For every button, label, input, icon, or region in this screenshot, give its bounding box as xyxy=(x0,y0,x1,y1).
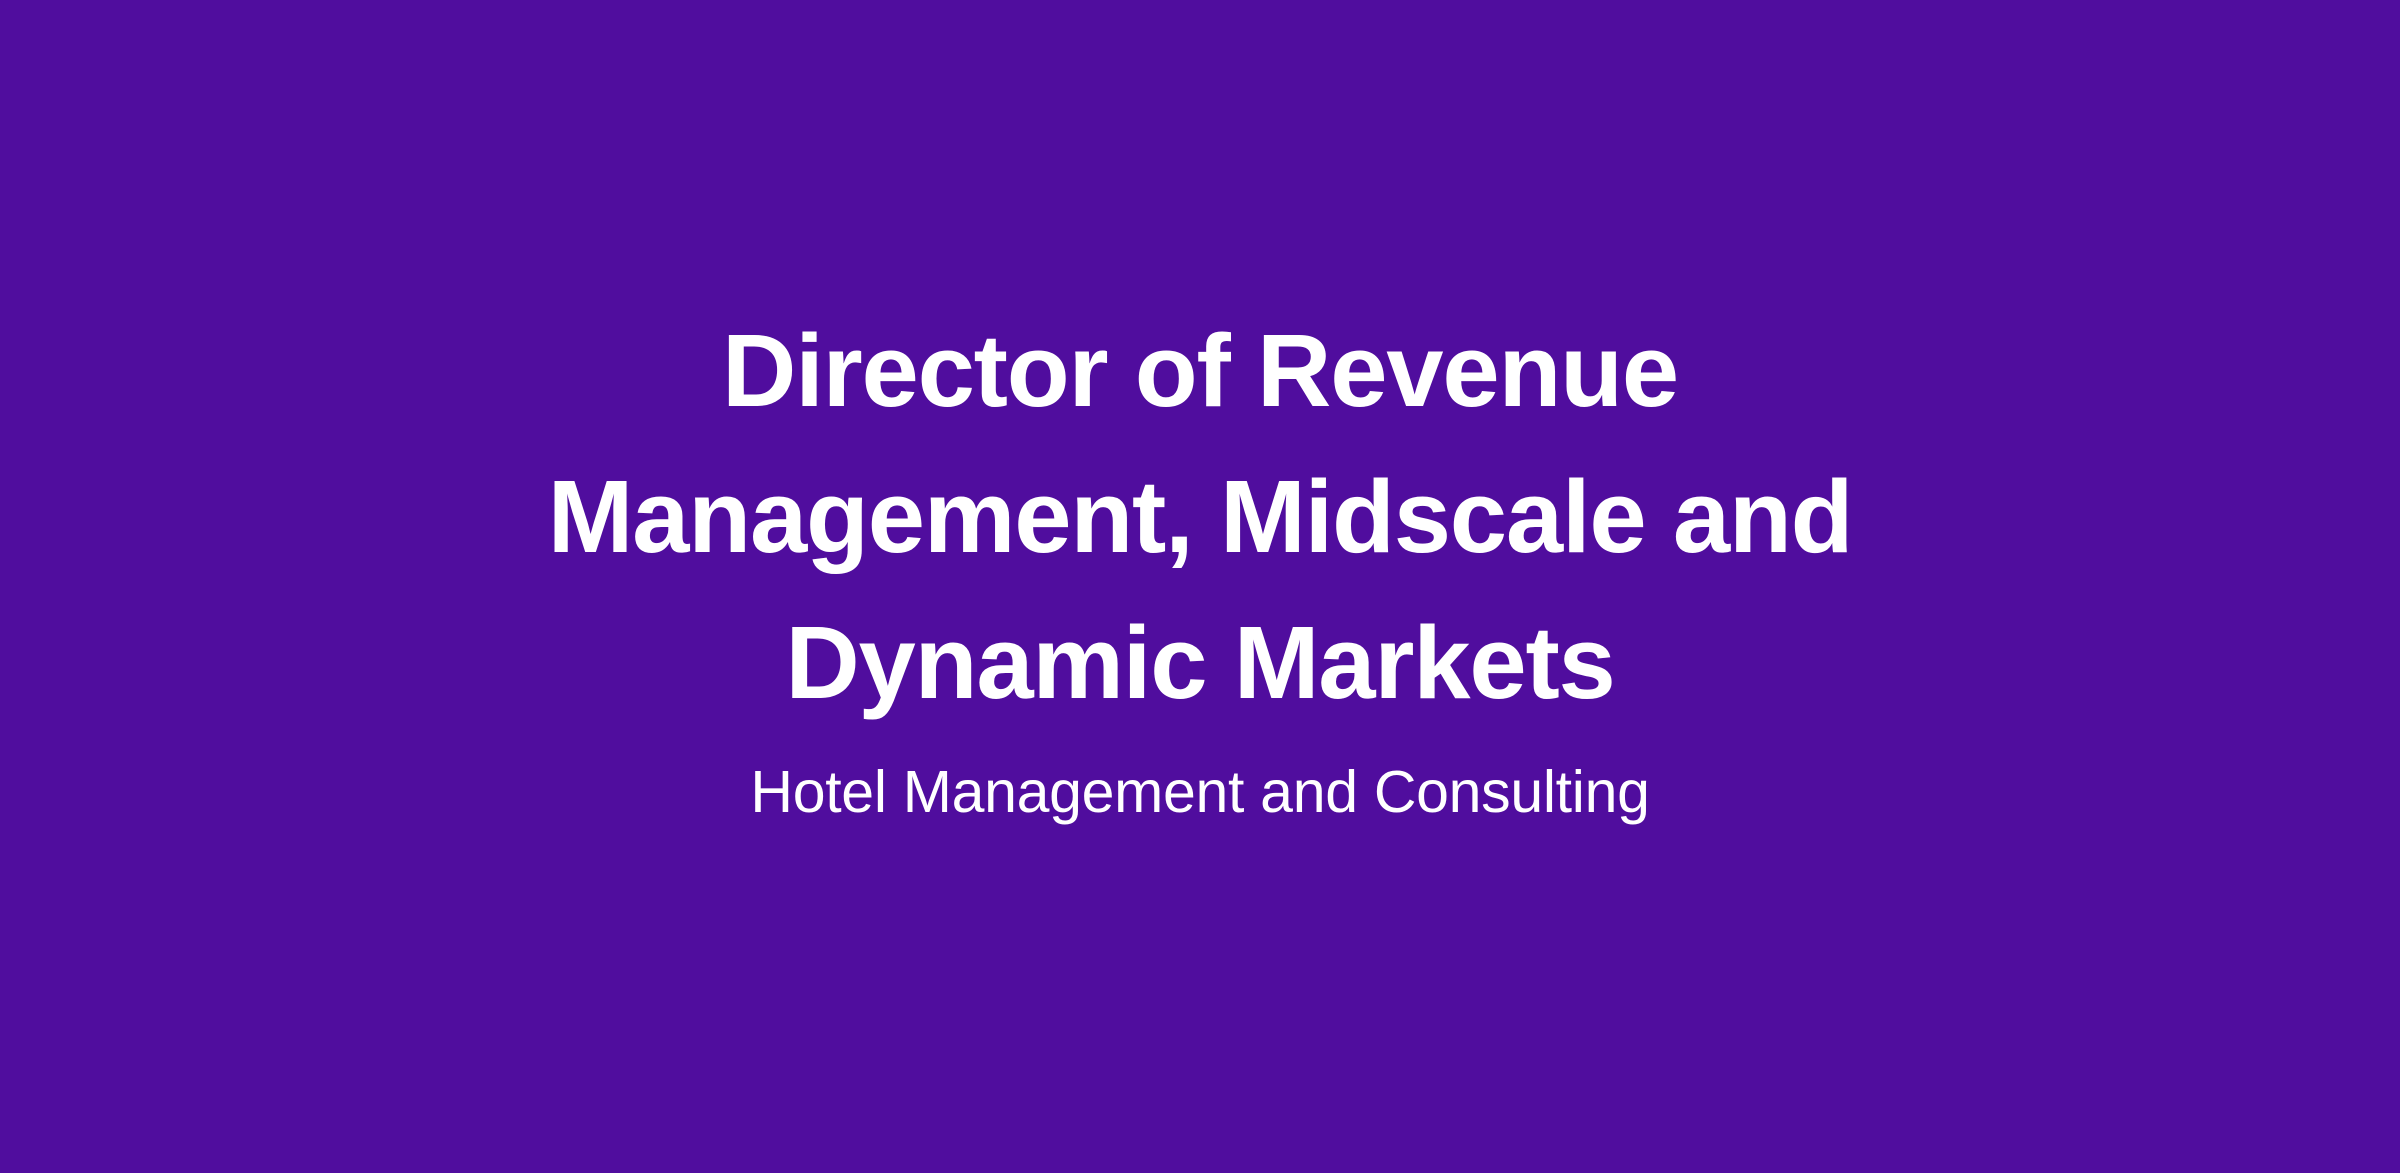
job-subtitle: Hotel Management and Consulting xyxy=(420,744,1980,840)
job-title: Director of Revenue Management, Midscale… xyxy=(420,298,1980,736)
job-posting-card: Director of Revenue Management, Midscale… xyxy=(0,0,2400,1173)
title-block: Director of Revenue Management, Midscale… xyxy=(420,298,1980,840)
